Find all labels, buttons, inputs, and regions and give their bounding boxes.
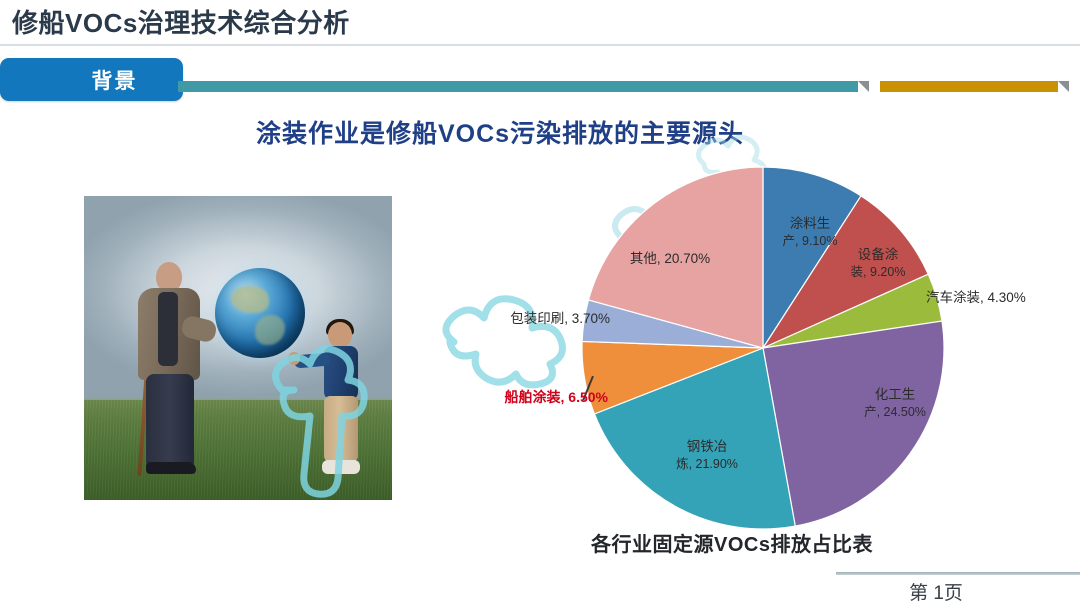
pie-label-steel-smelting-line1: 钢铁冶 xyxy=(654,438,760,456)
pie-label-others: 其他, 20.70% xyxy=(610,250,730,268)
chart-caption: 各行业固定源VOCs排放占比表 xyxy=(432,528,1032,557)
man-shoes xyxy=(146,462,196,474)
section-tab-label: 背景 xyxy=(0,58,183,101)
slide-canvas: 修船VOCs治理技术综合分析 背景 涂装作业是修船VOCs污染排放的主要源头 xyxy=(0,0,1080,608)
pie-label-packaging-printing: 包装印刷, 3.70% xyxy=(470,310,610,328)
pie-label-chemical-production: 化工生 产, 24.50% xyxy=(842,386,948,421)
pie-label-coating-production: 涂料生 产, 9.10% xyxy=(762,215,858,250)
photo-elder-child-globe xyxy=(84,196,392,500)
pie-label-chemical-production-line1: 化工生 xyxy=(842,386,948,404)
boy-shirt xyxy=(324,346,358,400)
pie-label-coating-production-line1: 涂料生 xyxy=(762,215,858,233)
globe-icon xyxy=(215,268,305,358)
section-tab-background[interactable]: 背景 xyxy=(0,58,183,101)
slide-subtitle: 涂装作业是修船VOCs污染排放的主要源头 xyxy=(0,114,1000,150)
pie-label-equipment-coating: 设备涂 装, 9.20% xyxy=(830,246,926,281)
pie-label-equipment-coating-line2: 装, 9.20% xyxy=(830,264,926,281)
pie-label-auto-coating: 汽车涂装, 4.30% xyxy=(926,289,1056,307)
pie-label-chemical-production-line2: 产, 24.50% xyxy=(842,404,948,421)
man-legs xyxy=(146,374,194,466)
header-bar-gold xyxy=(880,81,1058,92)
elderly-man-figure xyxy=(132,262,210,480)
boy-hand xyxy=(288,352,300,365)
boy-shoes xyxy=(322,460,360,474)
boy-head xyxy=(328,322,352,348)
header-bar-teal xyxy=(178,81,858,92)
pie-label-packaging-printing-line1: 包装印刷, 3.70% xyxy=(470,310,610,328)
pie-label-ship-coating-line1: 船舶涂装, 6.50% xyxy=(478,388,608,407)
pie-chart: 涂料生 产, 9.10% 设备涂 装, 9.20% 汽车涂装, 4.30% 化工… xyxy=(432,160,1080,560)
pie-label-steel-smelting: 钢铁冶 炼, 21.90% xyxy=(654,438,760,473)
pie-label-steel-smelting-line2: 炼, 21.90% xyxy=(654,456,760,473)
footer-divider xyxy=(836,572,1080,575)
pie-label-others-line1: 其他, 20.70% xyxy=(610,250,730,268)
boy-pants xyxy=(324,396,358,462)
title-divider xyxy=(0,44,1080,46)
pie-label-equipment-coating-line1: 设备涂 xyxy=(830,246,926,264)
man-shirt xyxy=(158,292,178,366)
pie-chart-svg xyxy=(432,160,1080,560)
page-title: 修船VOCs治理技术综合分析 xyxy=(12,3,350,40)
pie-label-ship-coating: 船舶涂装, 6.50% xyxy=(478,388,608,407)
page-number: 第 1页 xyxy=(836,578,1036,605)
child-figure xyxy=(310,322,368,480)
pie-label-auto-coating-line1: 汽车涂装, 4.30% xyxy=(926,289,1056,307)
